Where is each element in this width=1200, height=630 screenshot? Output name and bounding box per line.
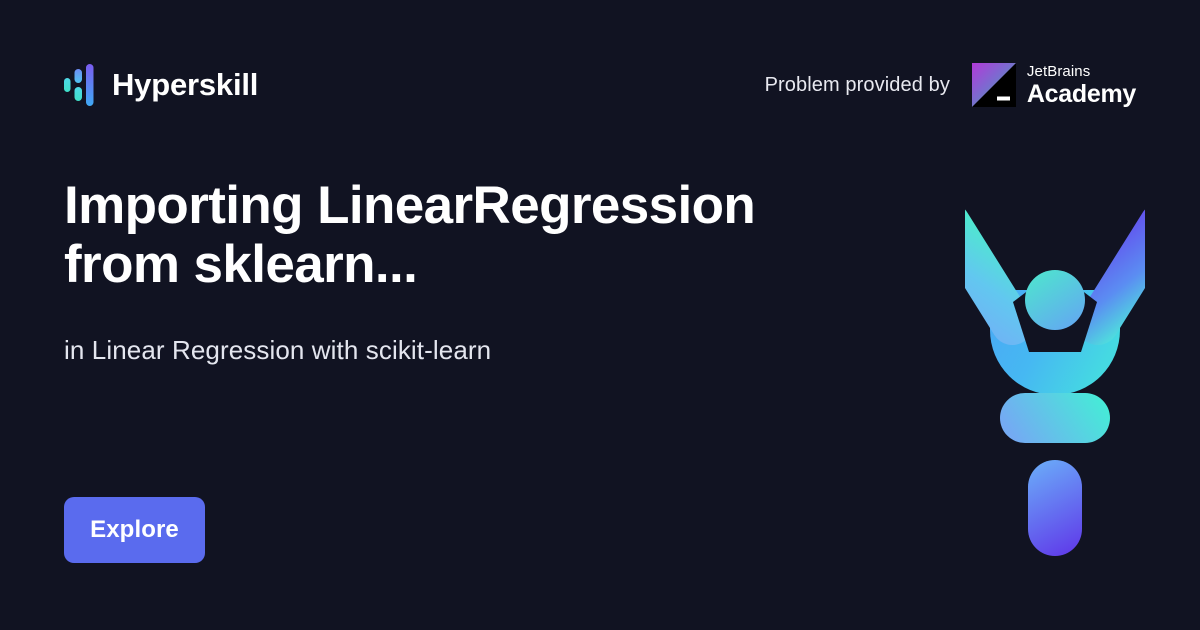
academy-label: Academy (1027, 82, 1136, 107)
provider-label: Problem provided by (765, 74, 950, 97)
page-subtitle: in Linear Regression with scikit-learn (64, 335, 824, 366)
hyperskill-emblem-icon (965, 180, 1145, 560)
jetbrains-label: JetBrains (1027, 64, 1136, 79)
page-title: Importing LinearRegression from sklearn.… (64, 176, 854, 295)
jetbrains-academy-logo[interactable]: JetBrains Academy (972, 63, 1136, 107)
explore-button[interactable]: Explore (64, 497, 205, 563)
hyperskill-brand[interactable]: Hyperskill (64, 64, 258, 106)
provider-block: Problem provided by (765, 63, 1136, 107)
header: Hyperskill Problem provided by (64, 54, 1136, 116)
share-card: Hyperskill Problem provided by (0, 0, 1200, 630)
hyperskill-wordmark: Hyperskill (112, 67, 258, 103)
jetbrains-academy-wordmark: JetBrains Academy (1027, 64, 1136, 107)
hyperskill-bars-icon (64, 64, 94, 106)
jetbrains-square-icon (972, 63, 1016, 107)
